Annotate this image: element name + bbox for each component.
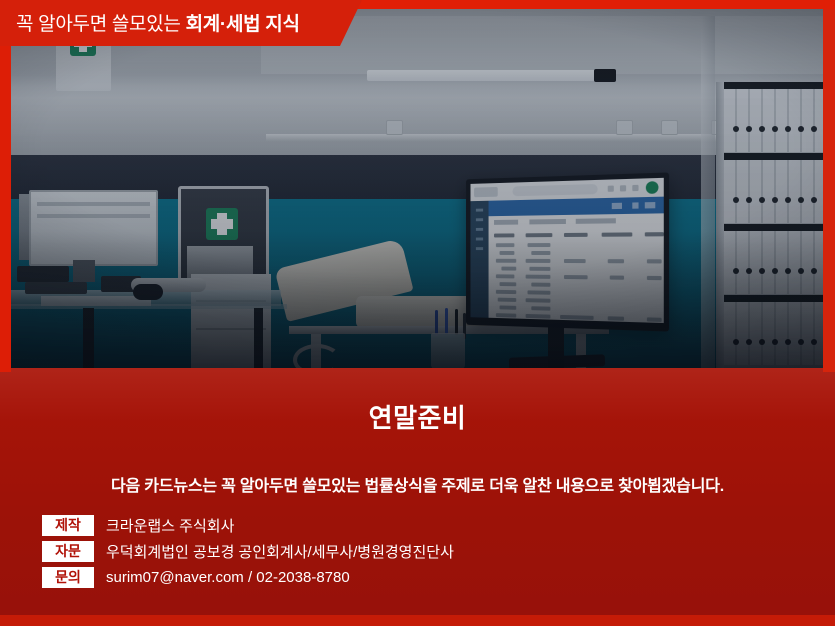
credit-row: 제작 크라운랩스 주식회사 bbox=[42, 512, 454, 538]
frame-right-border bbox=[823, 0, 835, 372]
wall-outlet bbox=[616, 120, 633, 135]
header-title: 꼭 알아두면 쓸모있는 회계·세법 지식 bbox=[16, 9, 300, 36]
bottom-panel: 연말준비 다음 카드뉴스는 꼭 알아두면 쓸모있는 법률상식을 주제로 더욱 알… bbox=[0, 368, 835, 626]
screen-logo bbox=[474, 187, 498, 197]
credits-block: 제작 크라운랩스 주식회사 자문 우덕회계법인 공보경 공인회계사/세무사/병원… bbox=[42, 512, 454, 590]
credit-value: surim07@naver.com / 02-2038-8780 bbox=[106, 569, 350, 586]
screen-avatar bbox=[646, 181, 659, 194]
shelf-row bbox=[724, 295, 824, 365]
wall-outlet bbox=[661, 120, 678, 135]
monitor-stand bbox=[548, 326, 564, 368]
credit-value: 우덕회계법인 공보경 공인회계사/세무사/병원경영진단사 bbox=[106, 541, 454, 562]
shelf-row bbox=[724, 224, 824, 294]
desk-equipment bbox=[25, 282, 87, 294]
screen-toolbar-icon bbox=[620, 185, 626, 191]
screen-toolbar-icon bbox=[632, 185, 638, 191]
desk-leg bbox=[254, 308, 263, 368]
left-monitor bbox=[29, 190, 158, 266]
credit-label: 문의 bbox=[42, 567, 94, 588]
monitor-screen bbox=[470, 178, 663, 323]
desk-leg bbox=[83, 308, 94, 368]
phone-handset bbox=[133, 284, 163, 300]
frame-left-border bbox=[0, 0, 11, 372]
pen-cup bbox=[431, 333, 465, 368]
credit-row: 자문 우덕회계법인 공보경 공인회계사/세무사/병원경영진단사 bbox=[42, 538, 454, 564]
subtitle-text: 다음 카드뉴스는 꼭 알아두면 쓸모있는 법률상식을 주제로 더욱 알찬 내용으… bbox=[0, 472, 835, 496]
pen bbox=[455, 309, 458, 335]
pen bbox=[445, 308, 448, 334]
clinic-photo bbox=[0, 0, 835, 372]
light-end-cap bbox=[594, 69, 616, 82]
binder-shelf bbox=[724, 82, 824, 368]
shelf-row bbox=[724, 153, 824, 223]
left-monitor-stand bbox=[73, 260, 95, 282]
first-aid-cross-icon bbox=[206, 208, 238, 240]
header-title-light: 꼭 알아두면 쓸모있는 bbox=[16, 14, 186, 35]
card-news-slide: 꼭 알아두면 쓸모있는 회계·세법 지식 연말준비 다음 카드뉴스는 꼭 알아두… bbox=[0, 0, 835, 626]
shelf-row bbox=[724, 82, 824, 152]
bottom-accent-strip bbox=[0, 615, 835, 626]
credit-value: 크라운랩스 주식회사 bbox=[106, 515, 234, 536]
desk-equipment bbox=[17, 266, 69, 282]
screen-toolbar-icon bbox=[608, 186, 614, 192]
center-monitor bbox=[466, 172, 669, 331]
photo-content bbox=[11, 8, 824, 368]
credit-row: 문의 surim07@naver.com / 02-2038-8780 bbox=[42, 564, 454, 590]
credit-label: 자문 bbox=[42, 541, 94, 562]
credit-label: 제작 bbox=[42, 515, 94, 536]
page-title: 연말준비 bbox=[0, 398, 835, 435]
screen-search-field bbox=[513, 184, 598, 196]
screen-sidebar bbox=[470, 201, 488, 318]
wall-outlet bbox=[386, 120, 403, 135]
header-title-bold: 회계·세법 지식 bbox=[186, 14, 300, 35]
ceiling-light bbox=[367, 70, 599, 81]
header-ribbon: 꼭 알아두면 쓸모있는 회계·세법 지식 bbox=[0, 0, 362, 46]
exam-bed-wheel bbox=[293, 344, 341, 368]
screen-data-table bbox=[489, 228, 664, 323]
door-frame bbox=[701, 16, 715, 368]
